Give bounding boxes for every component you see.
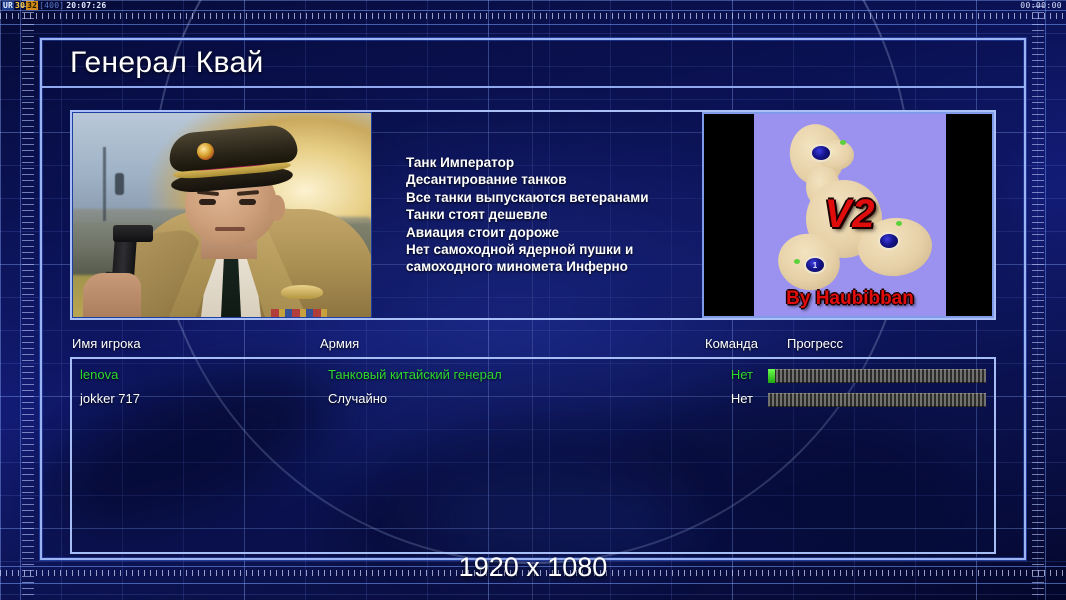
description-line: Авиация стоит дороже (406, 224, 702, 241)
status-value-b: 32 (26, 1, 38, 10)
map-image: 1 V2 By Haubibban (754, 114, 946, 316)
player-name: jokker 717 (80, 391, 140, 406)
title-bar: Генерал Квай (42, 40, 1024, 88)
status-value-a: 30 (14, 1, 26, 10)
status-bar: UR3032[400]20:07:26 (2, 1, 107, 10)
frame-rule-line (0, 24, 1066, 25)
general-eye (239, 199, 256, 205)
general-hand (83, 273, 141, 318)
column-header-army: Армия (320, 336, 359, 351)
main-frame: Генерал Квай (40, 38, 1026, 560)
column-header-team: Команда (705, 336, 758, 351)
player-progress-bar (768, 369, 986, 383)
general-mouth (215, 227, 245, 231)
map-start-position (810, 144, 832, 162)
general-wing-insignia-icon (281, 285, 323, 299)
description-line: Нет самоходной ядерной пушки и (406, 241, 702, 258)
progress-track (768, 369, 986, 383)
column-header-player-name: Имя игрока (72, 336, 141, 351)
player-name: lenova (80, 367, 118, 382)
session-clock: 00:00:00 (1020, 1, 1062, 10)
map-version-label: V2 (754, 192, 946, 237)
player-team: Нет (697, 367, 753, 382)
table-row[interactable]: jokker 717 Случайно Нет (72, 388, 994, 412)
player-army: Танковый китайский генерал (328, 367, 502, 382)
status-time: 20:07:26 (65, 1, 107, 10)
pistol-slide-icon (113, 225, 153, 242)
progress-track (768, 393, 986, 407)
general-eye (199, 199, 216, 205)
map-preview: 1 V2 By Haubibban (702, 112, 994, 318)
progress-fill (768, 369, 775, 383)
frame-rule-line (20, 0, 21, 600)
description-line: Танки стоят дешевле (406, 206, 702, 223)
general-ear (269, 195, 285, 221)
player-army: Случайно (328, 391, 387, 406)
loading-screen: UR3032[400]20:07:26 00:00:00 Генерал Ква… (0, 0, 1066, 600)
frame-rule-line (1045, 0, 1046, 600)
players-table-header: Имя игрока Армия Команда Прогресс (70, 336, 996, 358)
general-description-list: Танк Император Десантирование танков Все… (372, 112, 702, 318)
description-line: Все танки выпускаются ветеранами (406, 189, 702, 206)
ruler-left (22, 0, 34, 600)
status-value-dim: [400] (38, 1, 65, 10)
map-start-position: 1 (804, 256, 826, 274)
general-ribbon-bar (271, 309, 327, 317)
map-author-label: By Haubibban (754, 288, 946, 310)
map-resource-marker (794, 259, 800, 264)
description-line: Десантирование танков (406, 171, 702, 188)
page-title: Генерал Квай (70, 46, 264, 80)
player-team: Нет (697, 391, 753, 406)
description-line: Танк Император (406, 154, 702, 171)
portrait-soldier (115, 173, 124, 195)
table-row[interactable]: lenova Танковый китайский генерал Нет (72, 364, 994, 388)
ruler-top (0, 12, 1066, 24)
players-table-body: lenova Танковый китайский генерал Нет jo… (70, 357, 996, 554)
general-info-panel: Танк Император Десантирование танков Все… (70, 110, 996, 320)
description-line: самоходного миномета Инферно (406, 258, 702, 275)
resolution-label: 1920 x 1080 (0, 552, 1066, 583)
column-header-progress: Прогресс (787, 336, 843, 351)
general-portrait (72, 112, 372, 318)
player-progress-bar (768, 393, 986, 407)
map-resource-marker (840, 140, 846, 145)
portrait-pole (103, 147, 106, 221)
status-label: UR (2, 1, 14, 10)
frame-rule-line (0, 10, 1066, 11)
ruler-right (1032, 0, 1044, 600)
frame-rule-line (0, 583, 1066, 584)
